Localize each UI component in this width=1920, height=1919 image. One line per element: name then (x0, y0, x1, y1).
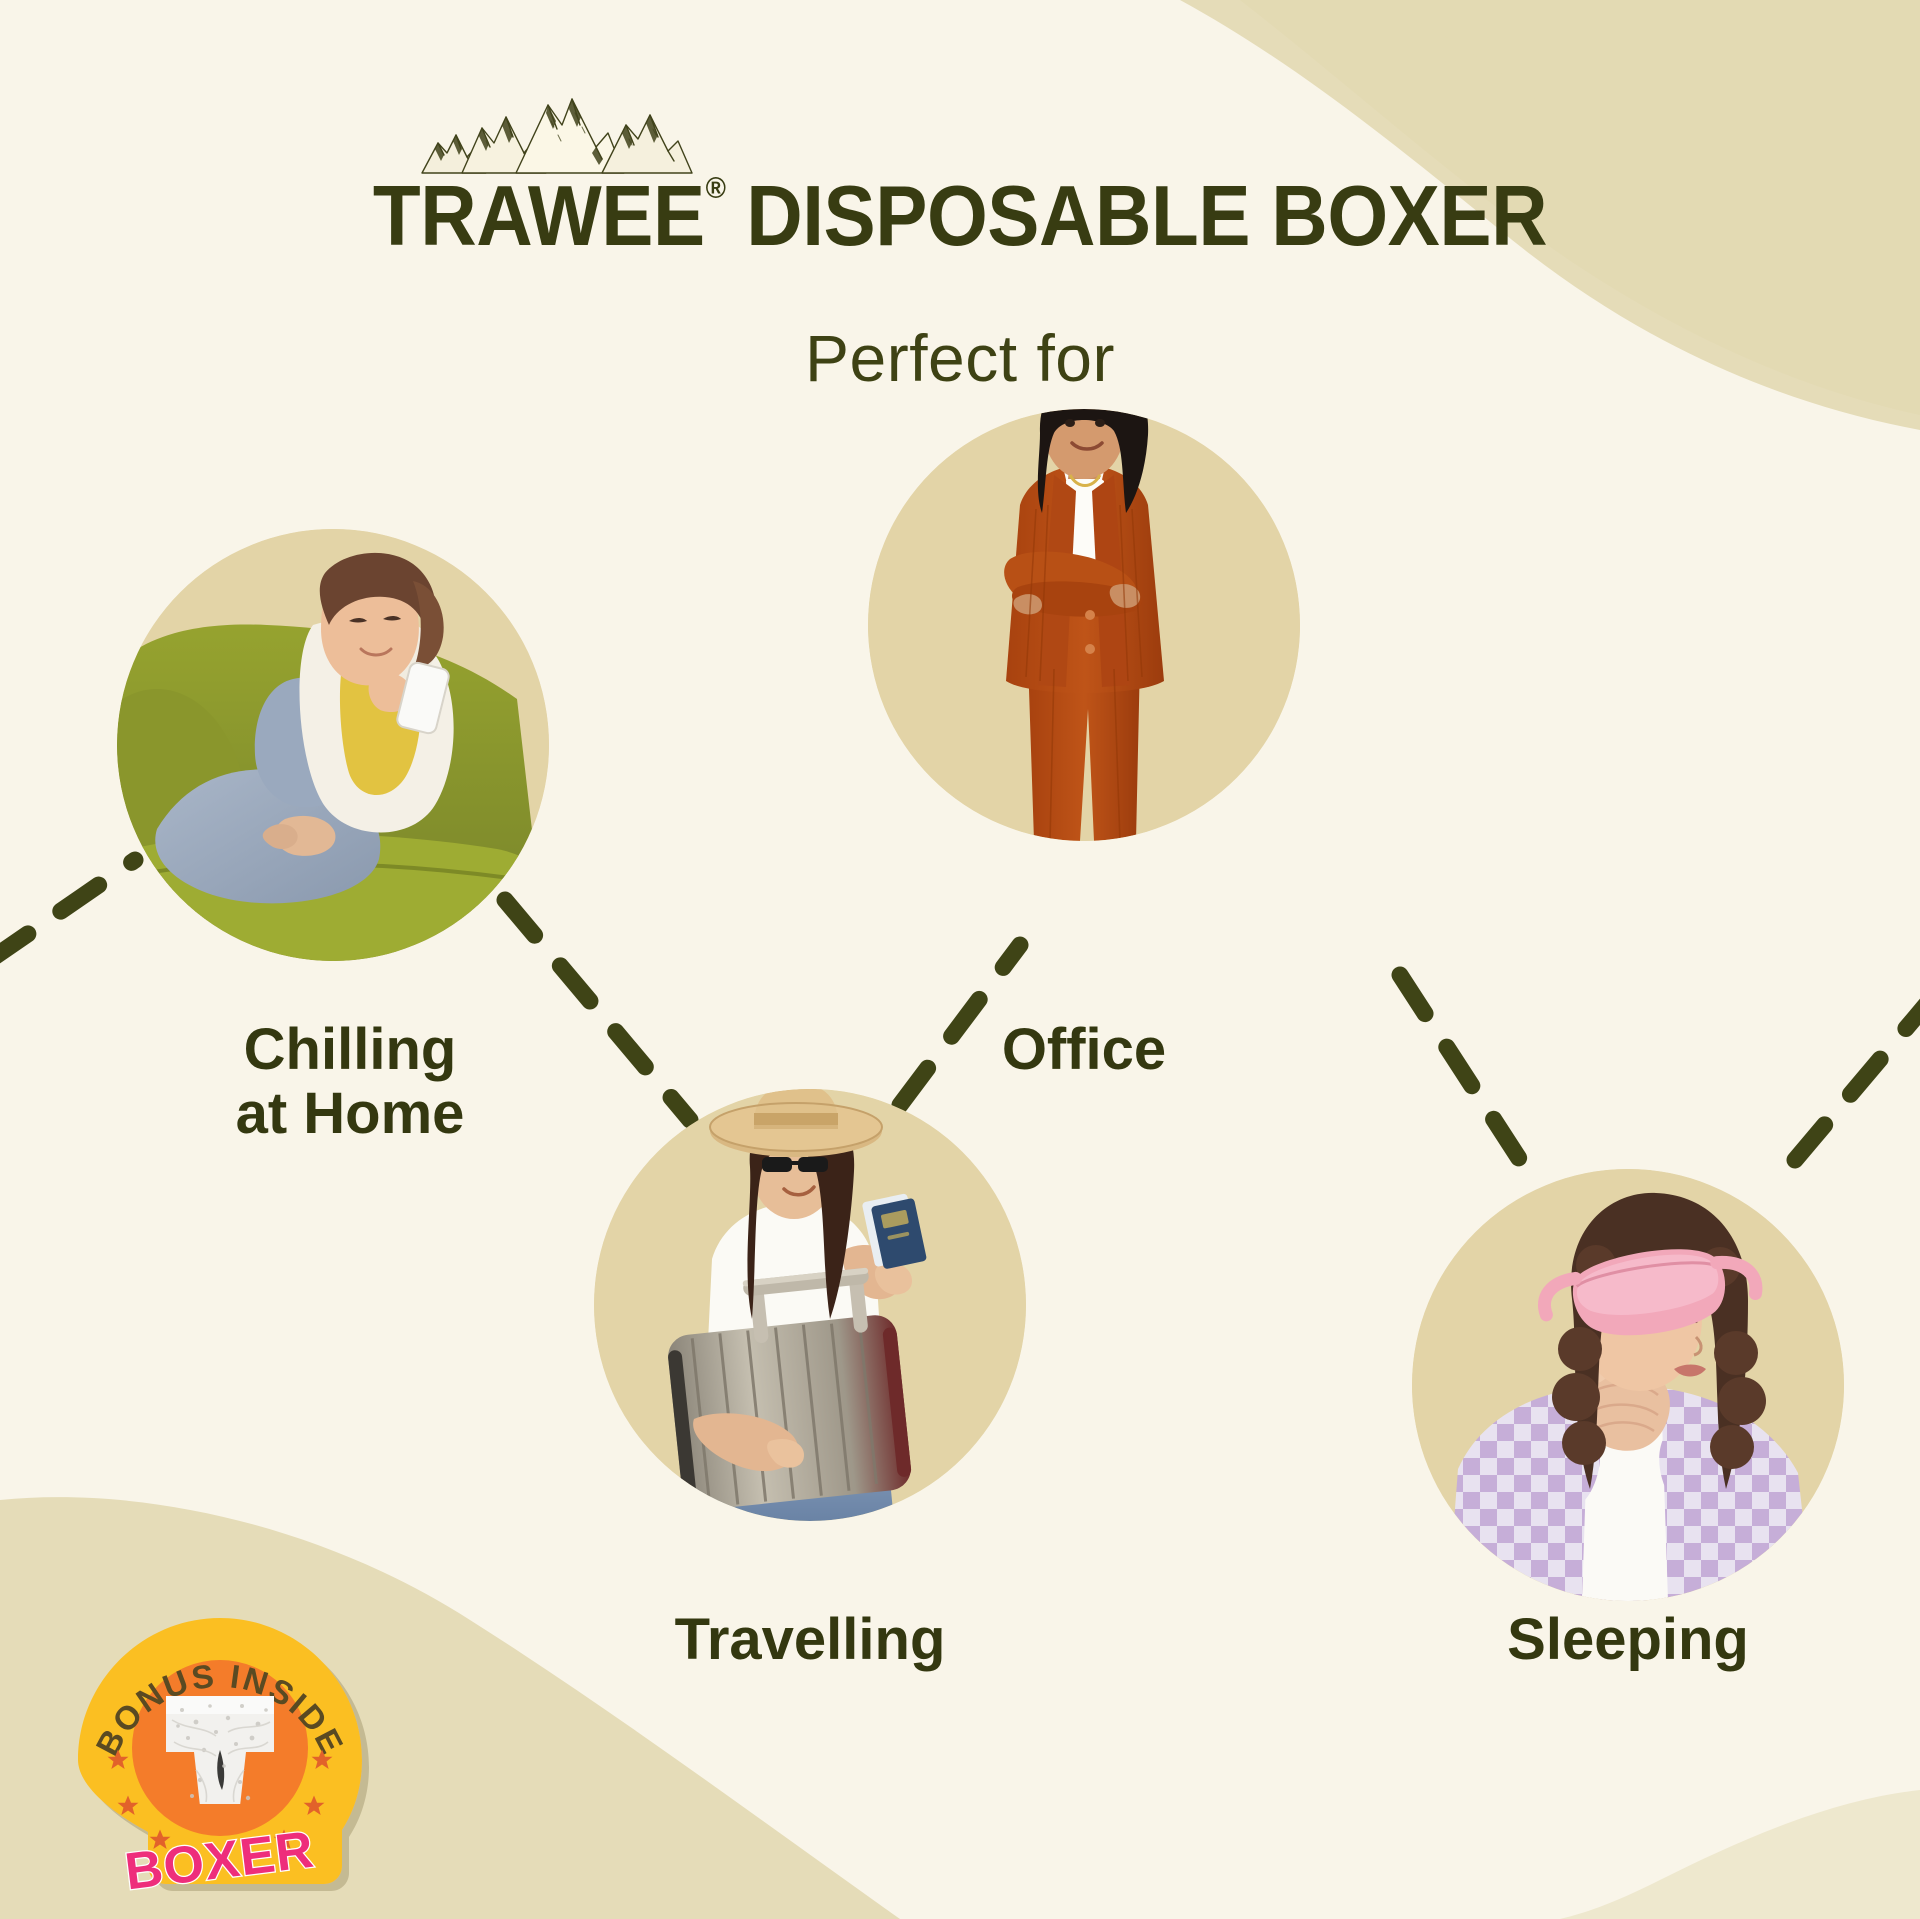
page-title: TRAWEE® DISPOSABLE BOXER (77, 168, 1843, 266)
page-subtitle: Perfect for (0, 320, 1920, 396)
node-travelling[interactable] (594, 1089, 1026, 1521)
woman-with-suitcase-and-passport-photo (594, 1089, 1026, 1521)
title-rest: DISPOSABLE BOXER (725, 169, 1547, 264)
registered-trademark-symbol: ® (706, 172, 726, 205)
woman-in-rust-suit-standing-photo (868, 409, 1300, 841)
bonus-inside-badge[interactable]: BONUS INSIDE (70, 1610, 370, 1910)
woman-with-pink-sleep-mask-photo (1412, 1169, 1844, 1601)
label-line-2: at Home (236, 1081, 465, 1146)
woman-on-green-couch-with-phone-photo (117, 529, 549, 961)
node-sleeping[interactable] (1412, 1169, 1844, 1601)
poster-canvas: TRAWEE® DISPOSABLE BOXER Perfect for (0, 0, 1920, 1919)
mountain-range-icon (420, 95, 700, 175)
label-sleeping: Sleeping (1428, 1608, 1828, 1672)
title-brand: TRAWEE (373, 169, 705, 264)
label-office: Office (884, 1018, 1284, 1082)
label-chilling-at-home: Chillingat Home (150, 1018, 550, 1146)
label-line-1: Chilling (244, 1017, 457, 1082)
node-office[interactable] (868, 409, 1300, 841)
node-chilling-at-home[interactable] (117, 529, 549, 961)
label-travelling: Travelling (610, 1608, 1010, 1672)
